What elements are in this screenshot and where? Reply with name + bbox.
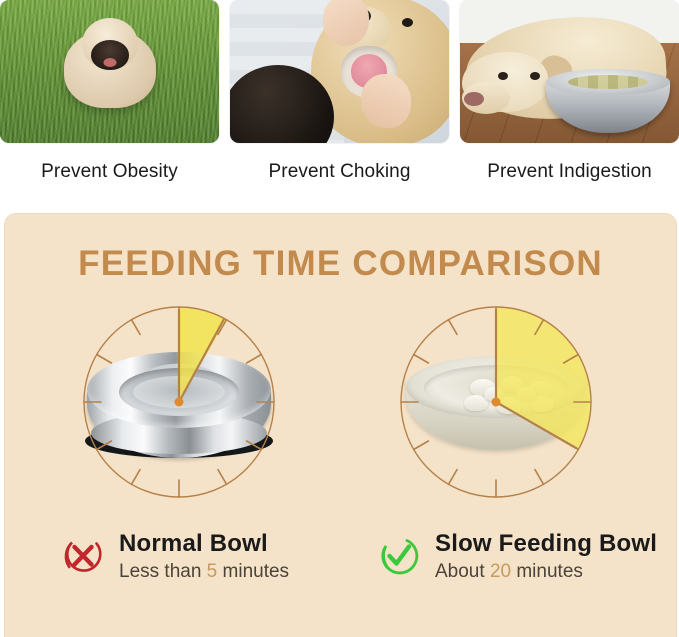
photo-hand-feeding-golden-retriever [230, 0, 449, 143]
benefit-prevent-indigestion: Prevent Indigestion [460, 0, 679, 183]
comparison-captions: Normal Bowl Less than 5 minutes Slow Fee… [5, 530, 676, 622]
caption-subtitle-prefix: Less than [119, 561, 207, 582]
caption-slow-feeding-bowl: Slow Feeding Bowl About 20 minutes [377, 530, 657, 582]
feeding-time-comparison-panel: FEEDING TIME COMPARISON [4, 213, 677, 637]
photo-fat-pug-on-grass [0, 0, 219, 143]
clock-normal-bowl [79, 302, 279, 502]
clock-dial-5-minutes [79, 302, 279, 502]
clock-slow-feeding-bowl [396, 302, 596, 502]
caption-subtitle-number: 5 [207, 561, 218, 582]
benefit-label: Prevent Obesity [41, 161, 178, 183]
caption-subtitle: Less than 5 minutes [119, 561, 289, 583]
clock-comparison-row [5, 302, 676, 512]
benefit-prevent-choking: Prevent Choking [230, 0, 449, 183]
benefit-prevent-obesity: Prevent Obesity [0, 0, 219, 183]
caption-title: Slow Feeding Bowl [435, 530, 657, 558]
caption-subtitle-suffix: minutes [217, 561, 289, 582]
caption-subtitle-prefix: About [435, 561, 490, 582]
photo-labrador-lying-beside-steel-bowl [460, 0, 679, 143]
green-check-circle-icon [377, 534, 421, 578]
caption-normal-bowl: Normal Bowl Less than 5 minutes [61, 530, 289, 582]
benefits-strip: Prevent Obesity Prevent Choking [0, 0, 679, 200]
benefit-label: Prevent Choking [269, 161, 411, 183]
benefit-label: Prevent Indigestion [487, 161, 652, 183]
caption-subtitle-number: 20 [490, 561, 511, 582]
caption-title: Normal Bowl [119, 530, 289, 558]
clock-dial-20-minutes [396, 302, 596, 502]
red-cross-circle-icon [61, 534, 105, 578]
page-title: FEEDING TIME COMPARISON [5, 244, 676, 284]
caption-subtitle: About 20 minutes [435, 561, 657, 583]
caption-subtitle-suffix: minutes [511, 561, 583, 582]
